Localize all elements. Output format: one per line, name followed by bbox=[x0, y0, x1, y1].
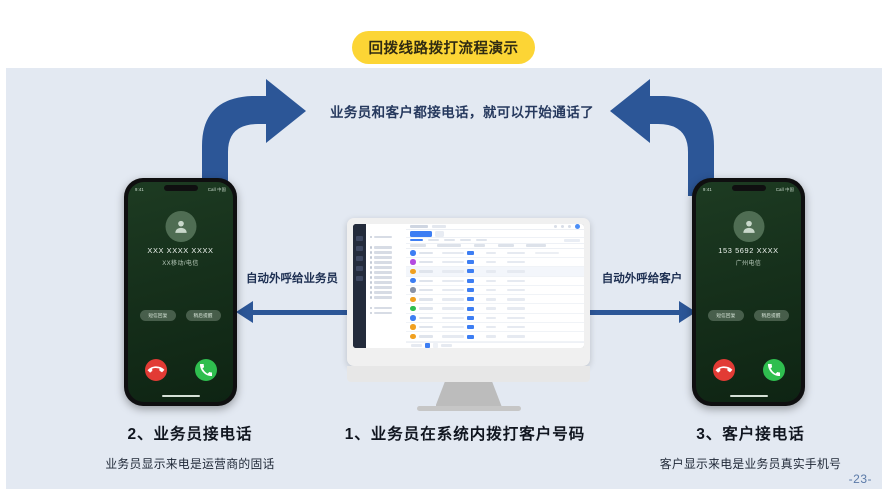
breadcrumb bbox=[410, 225, 428, 228]
home-indicator bbox=[730, 395, 768, 398]
top-note-label: 业务员和客户都接电话，就可以开始通话了 bbox=[322, 101, 602, 121]
caption-step-1: 1、业务员在系统内拨打客户号码 bbox=[335, 422, 595, 444]
sidebar-item[interactable] bbox=[370, 291, 403, 293]
table-row[interactable] bbox=[406, 323, 584, 332]
cell-status bbox=[486, 289, 496, 291]
sms-reply-button[interactable]: 短信回复 bbox=[708, 310, 743, 321]
caption-step-2: 2、业务员接电话 业务员显示来电是运营商的固话 bbox=[40, 422, 340, 472]
status-signal: Call 中国 bbox=[776, 187, 794, 193]
cell-time bbox=[507, 270, 525, 272]
cell-status bbox=[486, 270, 496, 272]
sidebar-item[interactable] bbox=[370, 296, 403, 298]
caller-avatar bbox=[733, 211, 764, 242]
cell-status bbox=[486, 252, 496, 254]
table-pagination bbox=[406, 342, 584, 348]
table-row[interactable] bbox=[406, 286, 584, 295]
cell-status bbox=[486, 326, 496, 328]
status-bar: 9:41 Call 中国 bbox=[128, 185, 233, 194]
column-header bbox=[437, 244, 461, 246]
cell-time bbox=[507, 261, 525, 263]
pagination-total bbox=[411, 344, 422, 346]
call-button[interactable] bbox=[467, 325, 474, 329]
remind-later-button[interactable]: 稍后提醒 bbox=[186, 310, 221, 321]
app-toolbar bbox=[406, 230, 584, 238]
cell-phone bbox=[442, 280, 464, 282]
arrow-stem bbox=[588, 310, 680, 315]
sidebar-item[interactable] bbox=[370, 271, 403, 273]
caller-location: 广州电信 bbox=[696, 258, 801, 267]
cell-name bbox=[419, 307, 433, 309]
column-header bbox=[526, 244, 546, 246]
call-button[interactable] bbox=[467, 251, 474, 255]
header-icon[interactable] bbox=[568, 225, 571, 228]
cell-note bbox=[535, 252, 559, 254]
app-rail bbox=[353, 224, 366, 348]
decline-call-button[interactable] bbox=[713, 359, 735, 381]
tab[interactable] bbox=[428, 239, 439, 242]
cell-phone bbox=[442, 317, 464, 319]
sidebar-group-label bbox=[371, 241, 403, 244]
cell-status bbox=[486, 307, 496, 309]
table-body bbox=[406, 249, 584, 342]
phone-agent: 9:41 Call 中国 XXX XXXX XXXX XX移动/电信 短信回复 … bbox=[124, 178, 237, 406]
cell-name bbox=[419, 326, 433, 328]
arrow-head-left-icon bbox=[236, 301, 253, 323]
person-icon bbox=[172, 218, 189, 235]
sidebar-item[interactable] bbox=[370, 281, 403, 283]
arrow-auto-dial-agent-label: 自动外呼给业务员 bbox=[236, 270, 348, 286]
monitor-screen bbox=[353, 224, 584, 348]
cell-status bbox=[486, 280, 496, 282]
tab[interactable] bbox=[444, 239, 455, 242]
page-size-select[interactable] bbox=[441, 344, 452, 346]
call-button[interactable] bbox=[467, 279, 474, 283]
cell-name bbox=[419, 270, 433, 272]
header-icon[interactable] bbox=[561, 225, 564, 228]
table-row[interactable] bbox=[406, 249, 584, 258]
row-avatar bbox=[410, 324, 416, 330]
call-button[interactable] bbox=[467, 288, 474, 292]
avatar[interactable] bbox=[575, 224, 580, 229]
caller-location: XX移动/电信 bbox=[128, 258, 233, 267]
arrow-auto-dial-customer-label: 自动外呼给客户 bbox=[588, 270, 696, 286]
cell-time bbox=[507, 252, 525, 254]
cell-time bbox=[507, 280, 525, 282]
sidebar-item[interactable] bbox=[370, 251, 403, 253]
remind-later-button[interactable]: 稍后提醒 bbox=[754, 310, 789, 321]
cell-phone bbox=[442, 261, 464, 263]
monitor-base bbox=[417, 406, 521, 411]
call-button[interactable] bbox=[467, 335, 474, 339]
rail-icon[interactable] bbox=[356, 266, 363, 271]
rail-icon[interactable] bbox=[356, 276, 363, 281]
cell-time bbox=[507, 289, 525, 291]
rail-icon[interactable] bbox=[356, 236, 363, 241]
cell-name bbox=[419, 252, 433, 254]
tab[interactable] bbox=[460, 239, 471, 242]
answer-call-button[interactable] bbox=[763, 359, 785, 381]
breadcrumb-tab[interactable] bbox=[432, 225, 446, 228]
cell-name bbox=[419, 261, 433, 263]
status-signal: Call 中国 bbox=[208, 187, 226, 193]
caption-step-2-sub: 业务员显示来电是运营商的固话 bbox=[40, 455, 340, 472]
cell-status bbox=[486, 335, 496, 337]
caller-avatar bbox=[165, 211, 196, 242]
cell-phone bbox=[442, 252, 464, 254]
sidebar-item[interactable] bbox=[370, 276, 403, 278]
arrow-auto-dial-customer: 自动外呼给客户 bbox=[588, 288, 696, 328]
sidebar-item[interactable] bbox=[370, 307, 403, 309]
sidebar-item[interactable] bbox=[370, 246, 403, 248]
row-avatar bbox=[410, 287, 416, 293]
call-button[interactable] bbox=[467, 297, 474, 301]
cell-phone bbox=[442, 298, 464, 300]
decline-call-button[interactable] bbox=[145, 359, 167, 381]
tab-active[interactable] bbox=[410, 239, 423, 242]
app-sidebar bbox=[366, 224, 406, 348]
sidebar-item[interactable] bbox=[370, 261, 403, 263]
table-row[interactable] bbox=[406, 314, 584, 323]
caption-step-3-heading: 3、客户接电话 bbox=[578, 422, 888, 444]
monitor-chin bbox=[347, 366, 590, 382]
cell-name bbox=[419, 280, 433, 282]
call-button[interactable] bbox=[467, 269, 474, 273]
cell-name bbox=[419, 317, 433, 319]
row-avatar bbox=[410, 306, 416, 312]
row-avatar bbox=[410, 334, 416, 340]
status-time: 9:41 bbox=[703, 187, 712, 192]
monitor-body bbox=[347, 218, 590, 366]
table-setting-button[interactable] bbox=[564, 239, 580, 242]
arrow-stem bbox=[252, 310, 348, 315]
call-button[interactable] bbox=[467, 260, 474, 264]
sidebar-item[interactable] bbox=[370, 236, 403, 238]
cell-time bbox=[507, 317, 525, 319]
sidebar-item[interactable] bbox=[370, 312, 403, 314]
table-row[interactable] bbox=[406, 332, 584, 341]
sidebar-item[interactable] bbox=[370, 256, 403, 258]
row-avatar bbox=[410, 269, 416, 275]
table-row[interactable] bbox=[406, 258, 584, 267]
cell-time bbox=[507, 298, 525, 300]
tab[interactable] bbox=[476, 239, 487, 242]
caption-step-2-heading: 2、业务员接电话 bbox=[40, 422, 340, 444]
person-icon bbox=[740, 218, 757, 235]
cell-name bbox=[419, 298, 433, 300]
column-header bbox=[410, 244, 426, 246]
cell-status bbox=[486, 317, 496, 319]
call-actions bbox=[696, 359, 801, 381]
sidebar-item[interactable] bbox=[370, 286, 403, 288]
page-next-button[interactable] bbox=[433, 343, 438, 348]
cell-phone bbox=[442, 289, 464, 291]
caller-number: 153 5692 XXXX bbox=[696, 246, 801, 255]
rail-icon[interactable] bbox=[356, 246, 363, 251]
caption-step-1-heading: 1、业务员在系统内拨打客户号码 bbox=[335, 422, 595, 444]
table-row[interactable] bbox=[406, 267, 584, 276]
call-options: 短信回复 稍后提醒 bbox=[696, 310, 801, 321]
table-row[interactable] bbox=[406, 304, 584, 313]
cell-name bbox=[419, 289, 433, 291]
phone-customer-screen: 9:41 Call 中国 153 5692 XXXX 广州电信 短信回复 稍后提… bbox=[696, 182, 801, 402]
row-avatar bbox=[410, 297, 416, 303]
sidebar-item[interactable] bbox=[370, 266, 403, 268]
cell-time bbox=[507, 326, 525, 328]
monitor-stand bbox=[436, 382, 502, 406]
status-bar: 9:41 Call 中国 bbox=[696, 185, 801, 194]
cell-time bbox=[507, 335, 525, 337]
phone-decline-icon bbox=[715, 362, 732, 379]
page-1-button[interactable] bbox=[425, 343, 430, 348]
cell-status bbox=[486, 298, 496, 300]
phone-decline-icon bbox=[147, 362, 164, 379]
caption-step-3-sub: 客户显示来电是业务员真实手机号 bbox=[578, 455, 888, 472]
call-button[interactable] bbox=[467, 307, 474, 311]
cell-status bbox=[486, 261, 496, 263]
cell-phone bbox=[442, 270, 464, 272]
status-time: 9:41 bbox=[135, 187, 144, 192]
sms-reply-button[interactable]: 短信回复 bbox=[140, 310, 175, 321]
table-row[interactable] bbox=[406, 295, 584, 304]
sidebar-group-label bbox=[371, 302, 403, 305]
phone-answer-icon bbox=[200, 364, 212, 376]
app-content bbox=[406, 224, 584, 348]
cell-phone bbox=[442, 326, 464, 328]
primary-action-button[interactable] bbox=[410, 231, 432, 237]
call-options: 短信回复 稍后提醒 bbox=[128, 310, 233, 321]
header-icon[interactable] bbox=[554, 225, 557, 228]
column-header bbox=[498, 244, 514, 246]
cell-name bbox=[419, 335, 433, 337]
cell-phone bbox=[442, 307, 464, 309]
answer-call-button[interactable] bbox=[195, 359, 217, 381]
cell-time bbox=[507, 307, 525, 309]
rail-icon[interactable] bbox=[356, 256, 363, 261]
home-indicator bbox=[162, 395, 200, 398]
row-avatar bbox=[410, 259, 416, 265]
caller-number: XXX XXXX XXXX bbox=[128, 246, 233, 255]
phone-agent-screen: 9:41 Call 中国 XXX XXXX XXXX XX移动/电信 短信回复 … bbox=[128, 182, 233, 402]
column-header bbox=[474, 244, 485, 246]
phone-customer: 9:41 Call 中国 153 5692 XXXX 广州电信 短信回复 稍后提… bbox=[692, 178, 805, 406]
sidebar-group-label bbox=[371, 231, 403, 234]
caption-step-3: 3、客户接电话 客户显示来电是业务员真实手机号 bbox=[578, 422, 888, 472]
slide-canvas: 回拨线路拨打流程演示 业务员和客户都接电话，就可以开始通话了 自动外呼给业务员 … bbox=[0, 0, 888, 500]
slide-title-badge: 回拨线路拨打流程演示 bbox=[352, 31, 535, 64]
table-row[interactable] bbox=[406, 277, 584, 286]
page-number: -23- bbox=[849, 472, 872, 486]
cell-phone bbox=[442, 335, 464, 337]
row-avatar bbox=[410, 315, 416, 321]
secondary-action-button[interactable] bbox=[435, 231, 444, 237]
row-avatar bbox=[410, 278, 416, 284]
call-actions bbox=[128, 359, 233, 381]
phone-answer-icon bbox=[768, 364, 780, 376]
arrow-auto-dial-agent: 自动外呼给业务员 bbox=[236, 288, 348, 328]
row-avatar bbox=[410, 250, 416, 256]
desktop-monitor bbox=[347, 218, 590, 410]
call-button[interactable] bbox=[467, 316, 474, 320]
